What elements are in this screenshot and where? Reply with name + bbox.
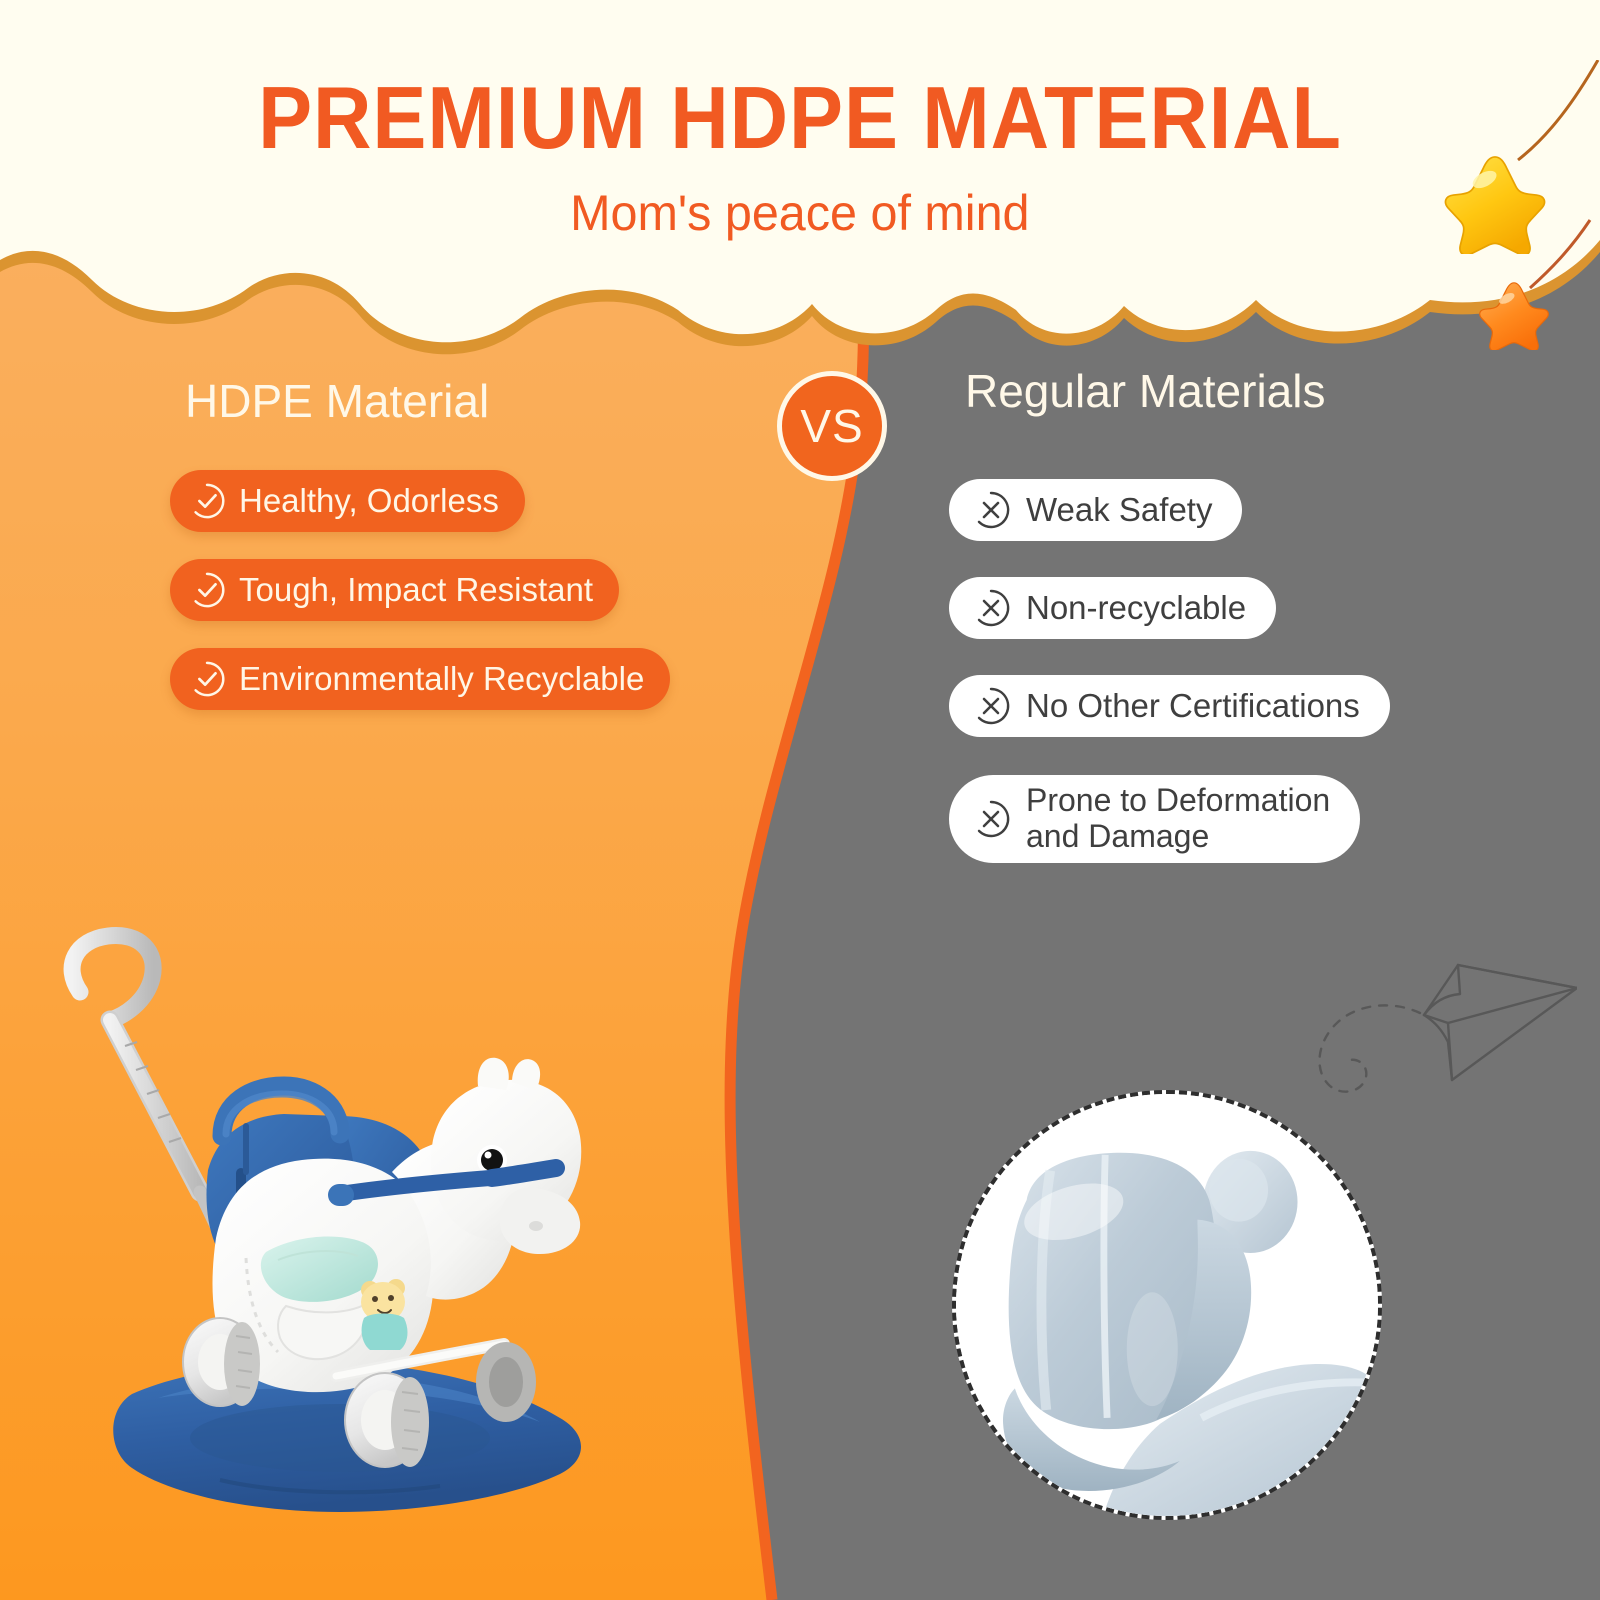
- drawback-pill[interactable]: Non-recyclable: [949, 577, 1276, 639]
- drawback-pill[interactable]: Prone to Deformation and Damage: [949, 775, 1360, 863]
- drawback-pill[interactable]: No Other Certifications: [949, 675, 1390, 737]
- infographic-poster: PREMIUM HDPE MATERIAL Mom's peace of min…: [0, 0, 1600, 1600]
- horse-body: [212, 1058, 581, 1392]
- drawback-pill-label: No Other Certifications: [1026, 688, 1360, 725]
- feature-pill-label: Healthy, Odorless: [239, 483, 499, 520]
- drawback-pill-label: Weak Safety: [1026, 492, 1212, 529]
- feature-pill-positive[interactable]: Environmentally Recyclable: [170, 648, 670, 710]
- feature-pill-label: Environmentally Recyclable: [239, 661, 644, 698]
- x-circle-icon: [971, 588, 1011, 628]
- check-circle-icon: [188, 660, 226, 698]
- column-heading-hdpe: HDPE Material: [185, 378, 489, 424]
- drawback-pill[interactable]: Weak Safety: [949, 479, 1242, 541]
- page-title: PREMIUM HDPE MATERIAL: [258, 74, 1342, 162]
- drawback-pill-label: Prone to Deformation and Damage: [1026, 783, 1330, 855]
- vs-badge-label: VS: [800, 399, 863, 453]
- x-circle-icon: [971, 490, 1011, 530]
- header-text-block: PREMIUM HDPE MATERIAL Mom's peace of min…: [0, 0, 1600, 300]
- page-subtitle: Mom's peace of mind: [570, 188, 1029, 238]
- check-circle-icon: [188, 571, 226, 609]
- feature-pill-positive[interactable]: Healthy, Odorless: [170, 470, 525, 532]
- column-heading-regular: Regular Materials: [965, 368, 1325, 414]
- feature-pill-label: Tough, Impact Resistant: [239, 572, 593, 609]
- plastic-part-illustration: [956, 1094, 1378, 1516]
- x-circle-icon: [971, 799, 1011, 839]
- x-circle-icon: [971, 686, 1011, 726]
- check-circle-icon: [188, 482, 226, 520]
- vs-badge: VS: [777, 371, 887, 481]
- regular-plastic-product-photo: [952, 1090, 1382, 1520]
- rocking-horse-product-photo: [40, 920, 610, 1580]
- star-string-lines: [1440, 60, 1600, 360]
- paper-plane-icon: [1272, 930, 1577, 1115]
- feature-pill-positive[interactable]: Tough, Impact Resistant: [170, 559, 619, 621]
- push-handle: [72, 935, 218, 1230]
- drawback-pill-label: Non-recyclable: [1026, 590, 1246, 627]
